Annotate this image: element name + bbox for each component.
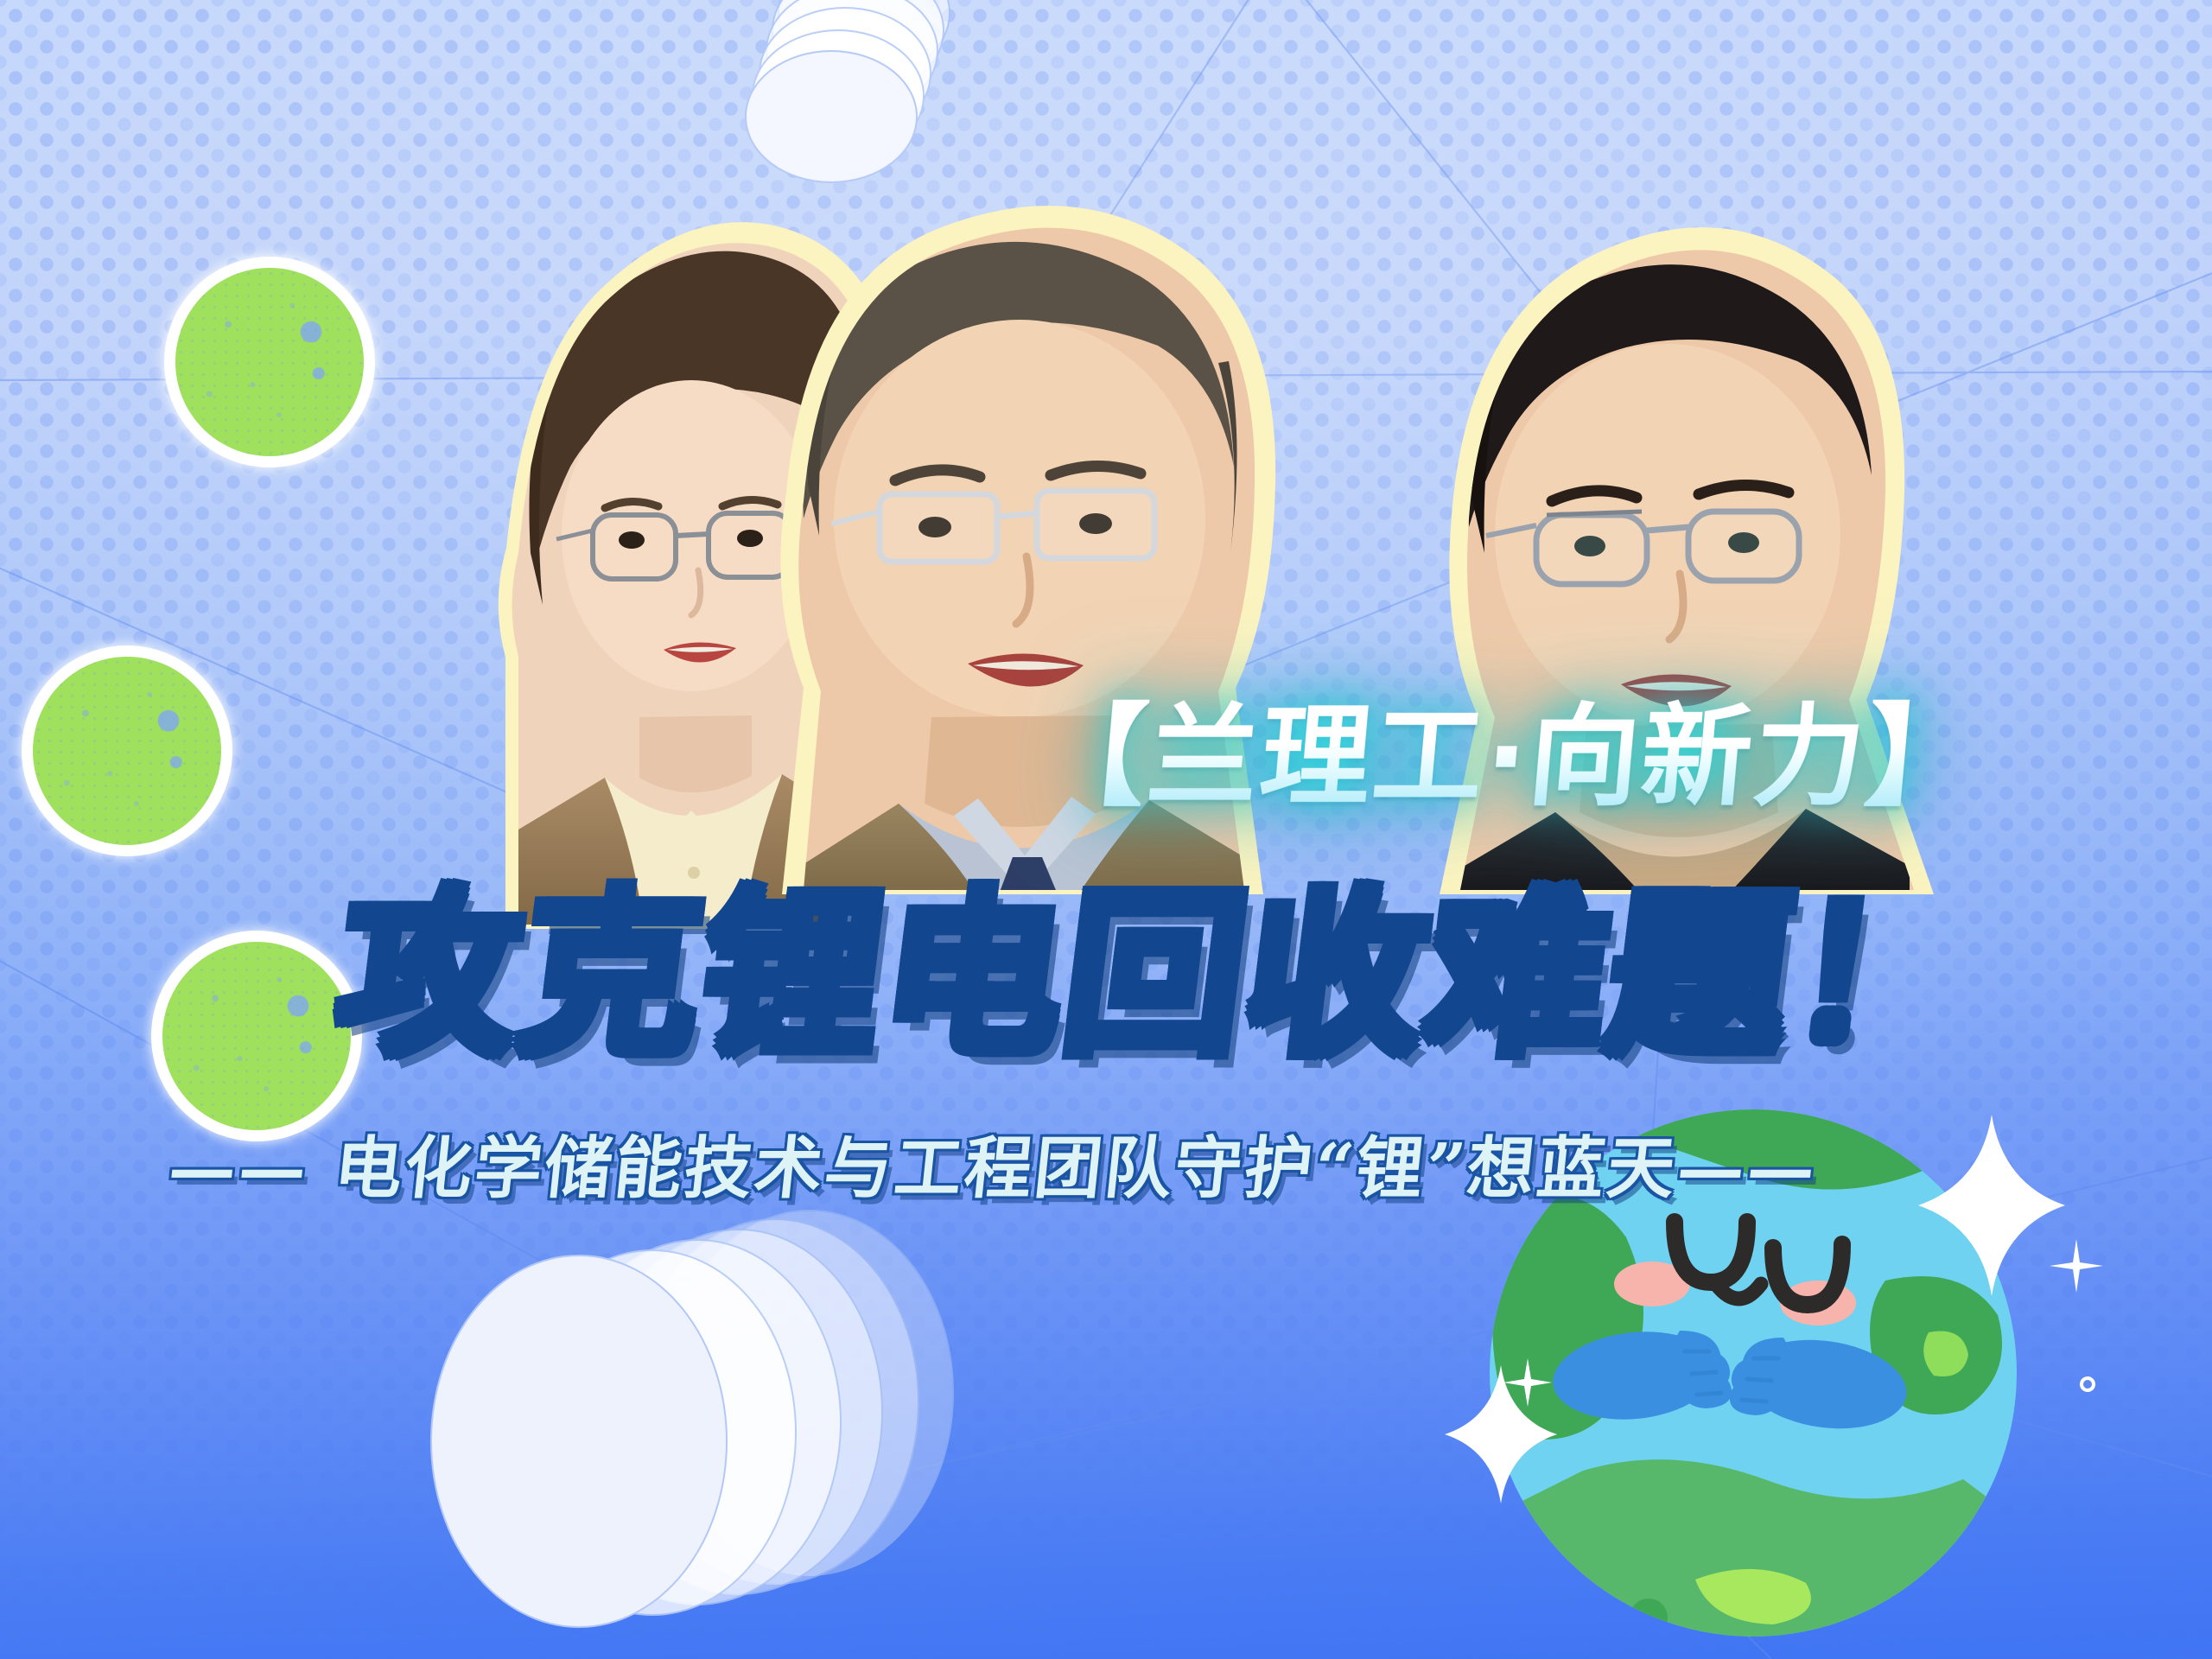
badge-title: 【兰理工·向新力】 [1030, 667, 1986, 827]
page-title-text: 攻克锂电回收难题！ [327, 870, 1986, 1079]
page-title: 攻克锂电回收难题！ [327, 831, 1992, 1089]
poster-canvas: 【兰理工·向新力】 攻克锂电回收难题！ —— 电化学储能技术与工程团队守护“锂”… [0, 0, 2212, 1659]
sparkle-plus-icon-1 [2046, 1236, 2107, 1296]
page-subtitle: —— 电化学储能技术与工程团队守护“锂”想蓝天—— [164, 1115, 1823, 1211]
sparkle-plus-icon-2 [1500, 1355, 1555, 1410]
sparkle-icon-1 [1918, 1115, 2065, 1296]
sparkle-dot-icon [2075, 1372, 2100, 1396]
